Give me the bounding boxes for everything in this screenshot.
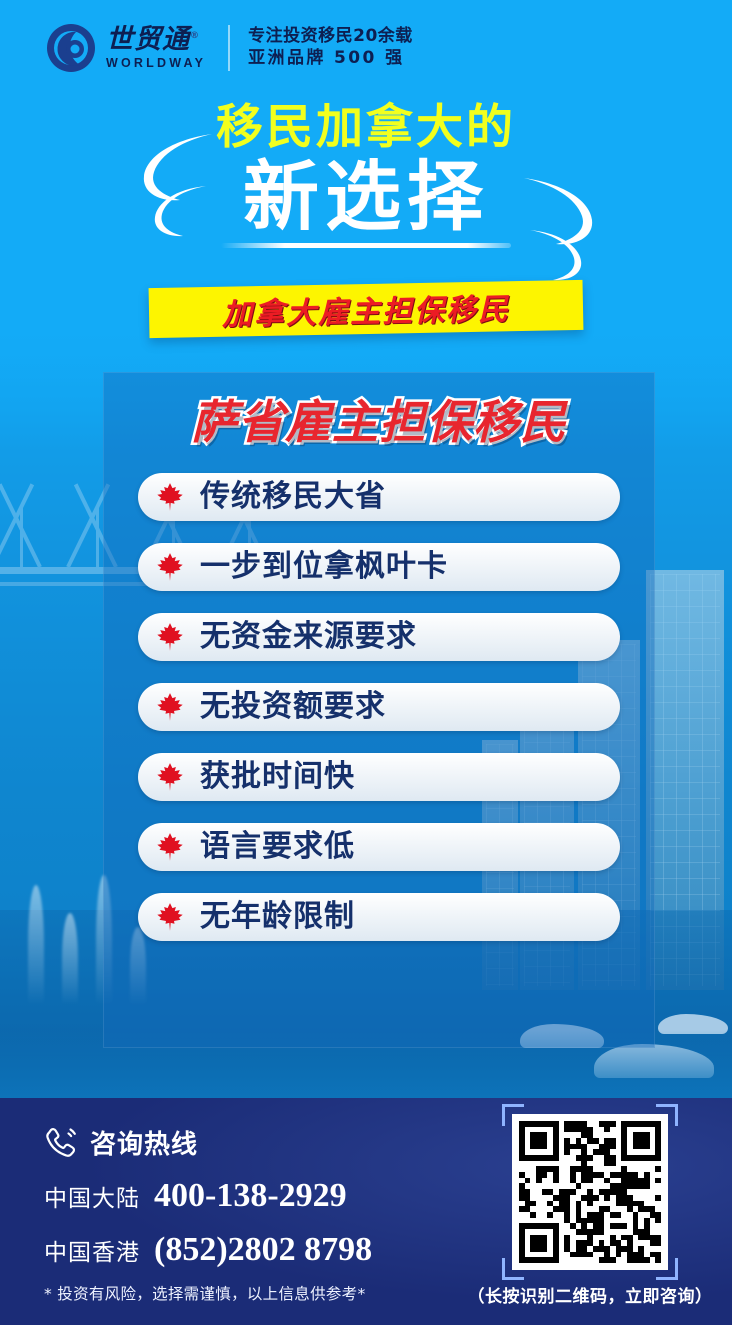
list-item[interactable]: 一步到位拿枫叶卡 <box>138 543 620 591</box>
qr-caption: （长按识别二维码，立即咨询） <box>468 1282 713 1307</box>
hero-underline <box>221 243 511 248</box>
maple-leaf-icon <box>156 482 184 512</box>
feature-label: 无投资额要求 <box>200 692 386 722</box>
poster-footer: 咨询热线 中国大陆 400-138-2929 中国香港 (852)2802 87… <box>0 1098 732 1325</box>
hero-line-1: 移民加拿大的 <box>0 104 732 151</box>
header-divider <box>228 25 230 71</box>
contact-number[interactable]: (852)2802 8798 <box>154 1231 372 1269</box>
qr-block: （长按识别二维码，立即咨询） <box>448 1098 732 1325</box>
hero-title-block: 移民加拿大的 新选择 <box>0 104 732 248</box>
feature-label: 语言要求低 <box>200 832 355 862</box>
feature-label: 一步到位拿枫叶卡 <box>200 552 448 582</box>
feature-label: 传统移民大省 <box>200 482 386 512</box>
qr-code-icon[interactable] <box>512 1114 668 1270</box>
frame-corner-bottom-right-icon <box>656 1258 678 1280</box>
contact-region: 中国香港 <box>44 1233 140 1267</box>
brand-name-cn: 世贸通® <box>106 26 206 53</box>
qr-frame <box>512 1114 668 1270</box>
ribbon-label: 加拿大雇主担保移民 <box>222 284 511 334</box>
poster-header: 世贸通® WORLDWAY 专注投资移民20余载 亚洲品牌 500 强 <box>0 0 732 96</box>
feature-label: 获批时间快 <box>200 762 355 792</box>
list-item[interactable]: 获批时间快 <box>138 753 620 801</box>
tagline-secondary: 亚洲品牌 500 强 <box>248 48 413 70</box>
tagline-primary: 专注投资移民20余载 <box>248 26 413 48</box>
hero-line-2: 新选择 <box>0 157 732 237</box>
yellow-ribbon-banner: 加拿大雇主担保移民 <box>149 280 584 338</box>
contact-row[interactable]: 中国香港 (852)2802 8798 <box>44 1231 448 1269</box>
maple-leaf-icon <box>156 902 184 932</box>
feature-list: 传统移民大省 一步到位拿枫叶卡 无资金来源要求 <box>104 473 654 941</box>
list-item[interactable]: 无资金来源要求 <box>138 613 620 661</box>
disclaimer-text: * 投资有风险，选择需谨慎，以上信息供参考* <box>44 1282 448 1304</box>
promo-poster: 世贸通® WORLDWAY 专注投资移民20余载 亚洲品牌 500 强 移民加拿… <box>0 0 732 1325</box>
maple-leaf-icon <box>156 832 184 862</box>
program-card: 萨省雇主担保移民 传统移民大省 一步到位拿枫叶卡 <box>103 372 655 1048</box>
hotline-header: 咨询热线 <box>44 1124 448 1161</box>
contact-number[interactable]: 400-138-2929 <box>154 1177 347 1215</box>
contact-block: 咨询热线 中国大陆 400-138-2929 中国香港 (852)2802 87… <box>0 1098 448 1325</box>
brand-logo: 世贸通® WORLDWAY <box>44 21 206 75</box>
maple-leaf-icon <box>156 552 184 582</box>
list-item[interactable]: 传统移民大省 <box>138 473 620 521</box>
feature-label: 无资金来源要求 <box>200 622 417 652</box>
brand-taglines: 专注投资移民20余载 亚洲品牌 500 强 <box>248 26 413 70</box>
frame-corner-top-right-icon <box>656 1104 678 1126</box>
maple-leaf-icon <box>156 622 184 652</box>
feature-label: 无年龄限制 <box>200 902 355 932</box>
registered-mark-icon: ® <box>190 31 200 41</box>
hotline-label: 咨询热线 <box>90 1124 198 1161</box>
phone-ringing-icon <box>44 1126 78 1160</box>
worldway-spiral-logo-icon <box>44 21 98 75</box>
list-item[interactable]: 无投资额要求 <box>138 683 620 731</box>
brand-name-cn-text: 世贸通 <box>106 24 190 55</box>
frame-corner-bottom-left-icon <box>502 1258 524 1280</box>
list-item[interactable]: 语言要求低 <box>138 823 620 871</box>
card-title: 萨省雇主担保移民 <box>104 399 654 445</box>
maple-leaf-icon <box>156 692 184 722</box>
frame-corner-top-left-icon <box>502 1104 524 1126</box>
contact-region: 中国大陆 <box>44 1179 140 1213</box>
brand-name-en: WORLDWAY <box>106 56 206 70</box>
list-item[interactable]: 无年龄限制 <box>138 893 620 941</box>
contact-row[interactable]: 中国大陆 400-138-2929 <box>44 1177 448 1215</box>
maple-leaf-icon <box>156 762 184 792</box>
